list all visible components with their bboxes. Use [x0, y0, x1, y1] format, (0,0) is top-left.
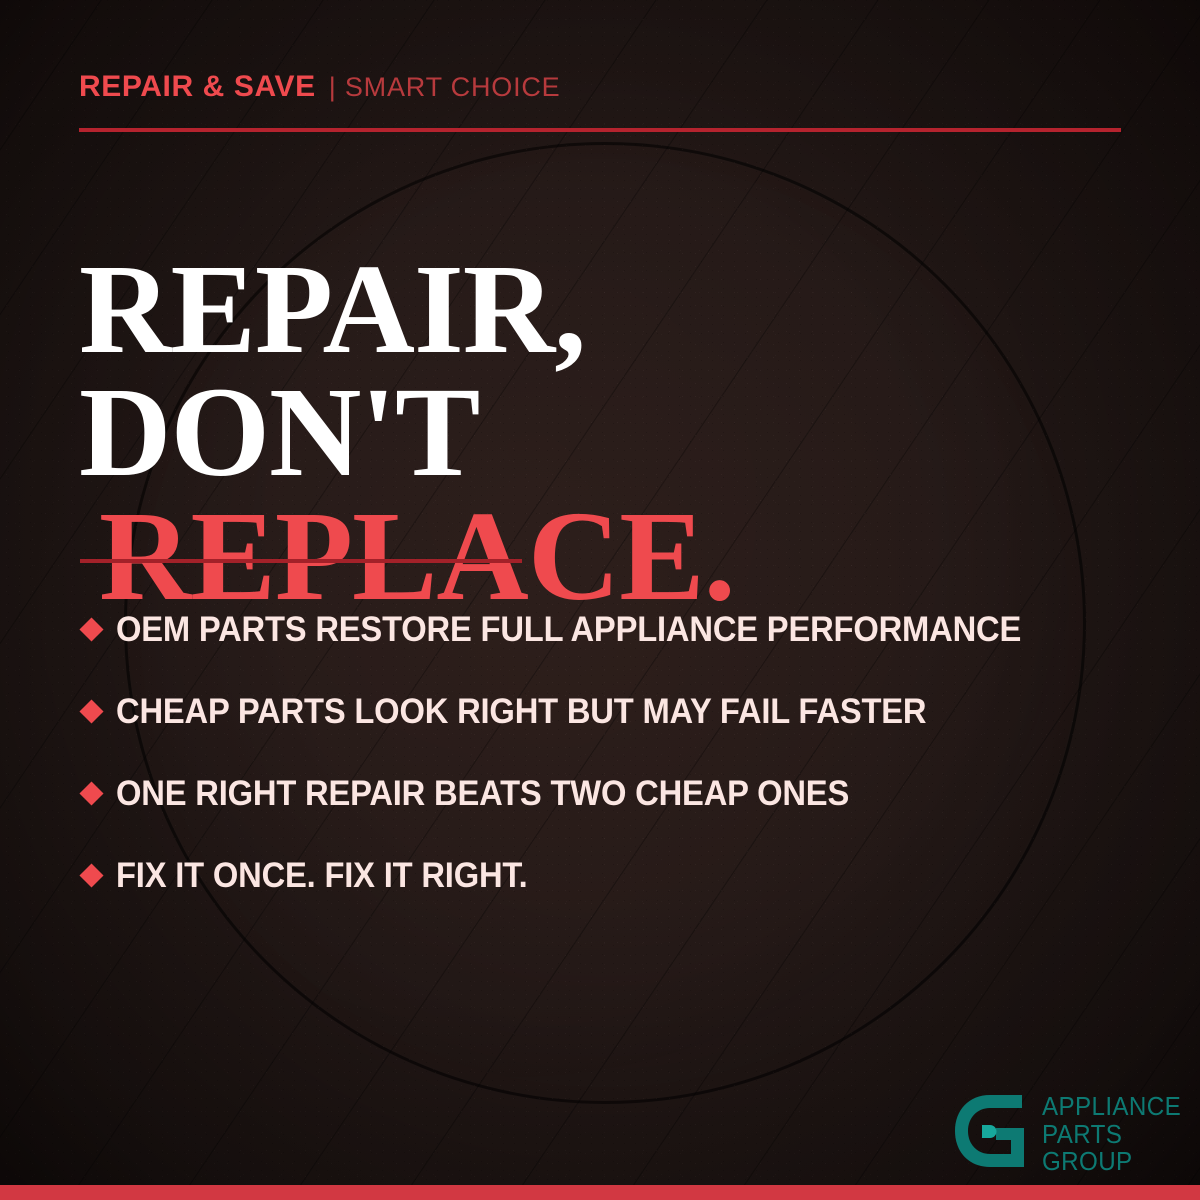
poster-content: REPAIR & SAVE | SMART CHOICE REPAIR, DON… — [0, 0, 1200, 1200]
benefit-label: FIX IT ONCE. FIX IT RIGHT. — [116, 858, 527, 893]
list-item: OEM PARTS RESTORE FULL APPLIANCE PERFORM… — [80, 588, 1150, 670]
eyebrow-primary-label: REPAIR & SAVE — [79, 72, 316, 102]
list-item: FIX IT ONCE. FIX IT RIGHT. — [80, 834, 1150, 916]
benefits-list: OEM PARTS RESTORE FULL APPLIANCE PERFORM… — [80, 588, 1150, 916]
eyebrow: REPAIR & SAVE | SMART CHOICE — [79, 72, 560, 102]
diamond-bullet-icon — [79, 781, 103, 805]
eyebrow-secondary-label: | SMART CHOICE — [329, 74, 561, 101]
headline-divider-rule — [80, 559, 522, 563]
benefit-label: CHEAP PARTS LOOK RIGHT BUT MAY FAIL FAST… — [116, 694, 926, 729]
diamond-bullet-icon — [79, 699, 103, 723]
benefit-label: OEM PARTS RESTORE FULL APPLIANCE PERFORM… — [116, 612, 1021, 647]
brand-logo: APPLIANCE PARTS GROUP — [952, 1092, 1192, 1176]
g-monogram-icon — [952, 1092, 1028, 1170]
benefit-label: ONE RIGHT REPAIR BEATS TWO CHEAP ONES — [116, 776, 849, 811]
diamond-bullet-icon — [79, 863, 103, 887]
list-item: ONE RIGHT REPAIR BEATS TWO CHEAP ONES — [80, 752, 1150, 834]
headline-line-2: DON'T — [79, 371, 1129, 495]
bottom-accent-bar — [0, 1185, 1200, 1200]
poster-canvas: REPAIR & SAVE | SMART CHOICE REPAIR, DON… — [0, 0, 1200, 1200]
brand-line-1: APPLIANCE — [1042, 1093, 1181, 1121]
diamond-bullet-icon — [79, 617, 103, 641]
header-divider-rule — [79, 128, 1121, 132]
headline-line-1: REPAIR, — [79, 248, 1129, 372]
brand-line-3: GROUP — [1042, 1148, 1181, 1176]
brand-logo-wordmark: APPLIANCE PARTS GROUP — [1042, 1092, 1181, 1176]
list-item: CHEAP PARTS LOOK RIGHT BUT MAY FAIL FAST… — [80, 670, 1150, 752]
brand-line-2: PARTS — [1042, 1121, 1181, 1149]
